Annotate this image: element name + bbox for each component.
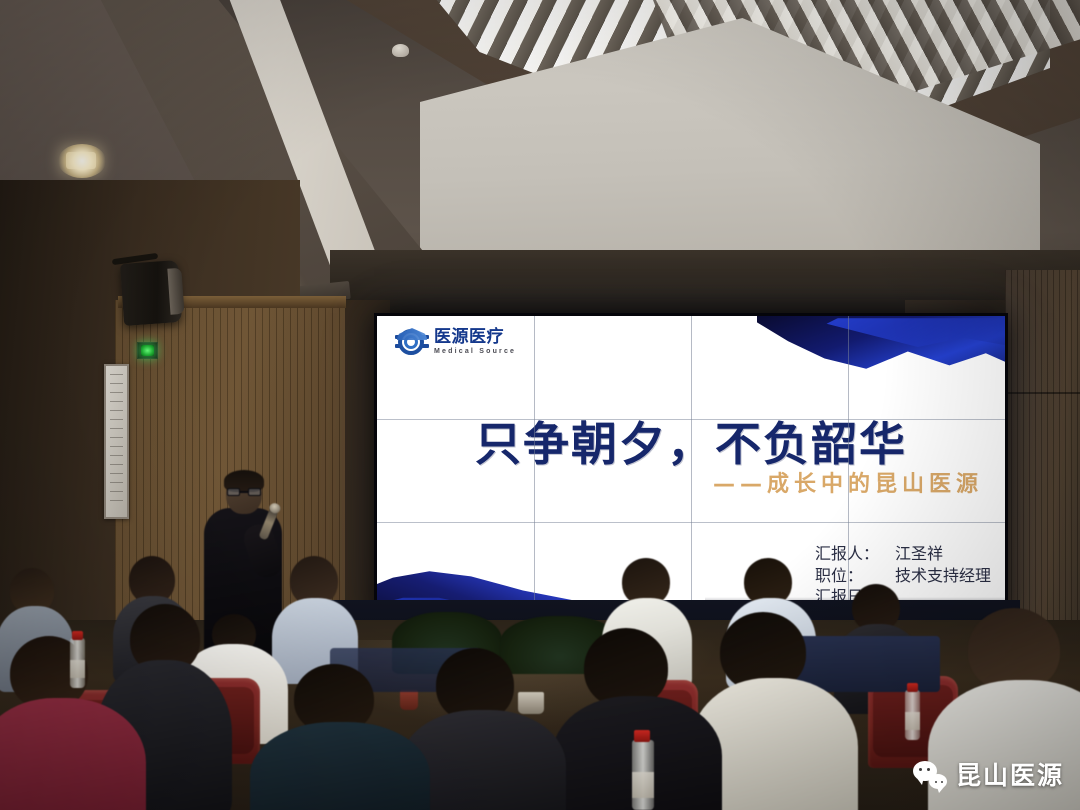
bottle-label <box>632 772 654 798</box>
presenter-value-position: 技术支持经理 <box>895 566 991 586</box>
watermark-text: 昆山医源 <box>956 756 1064 792</box>
logo-english-name: Medical Source <box>434 348 516 355</box>
presenter-glasses-icon <box>227 488 261 496</box>
panel-seam-horizontal <box>377 419 1005 420</box>
downlight-glow <box>58 144 106 178</box>
glasses-lens <box>227 488 240 496</box>
audience-person <box>700 612 850 810</box>
wechat-dot <box>919 768 922 771</box>
wechat-bubble-small-tail <box>937 787 944 793</box>
logo-text-block: 医源医疗 Medical Source <box>434 329 516 355</box>
water-bottle <box>905 690 920 740</box>
exit-sign-icon <box>137 342 158 359</box>
panel-seam-vertical <box>848 316 849 623</box>
water-bottle <box>632 740 654 810</box>
glasses-bridge <box>240 491 248 493</box>
watermark: 昆山医源 <box>913 756 1064 792</box>
glasses-lens <box>248 488 261 496</box>
exit-sign-glow <box>141 345 154 356</box>
smoke-detector-icon <box>392 44 409 57</box>
presenter-value-reporter: 江圣祥 <box>895 544 991 564</box>
bottle-cap <box>634 730 650 742</box>
framed-notice-icon <box>104 364 129 519</box>
wechat-dot <box>941 781 943 783</box>
wechat-dot <box>927 768 930 771</box>
wall-seam <box>1005 392 1080 394</box>
presenter-label-reporter: 汇报人： <box>815 544 879 564</box>
wechat-icon <box>913 759 947 789</box>
wechat-bubble-large-tail <box>916 777 924 785</box>
wechat-dot <box>935 781 937 783</box>
medical-source-ring-logo-icon <box>395 328 429 356</box>
slide-logo: 医源医疗 Medical Source <box>395 328 516 356</box>
presenter-label-position: 职位： <box>815 566 879 586</box>
wall-speaker-icon <box>120 260 182 326</box>
panel-seam-horizontal <box>377 522 1005 523</box>
notice-text-lines <box>110 374 123 509</box>
logo-chinese-name: 医源医疗 <box>434 329 516 346</box>
panel-seam-vertical <box>691 316 692 623</box>
logo-swoosh <box>397 328 427 340</box>
panel-seam-vertical <box>534 316 535 623</box>
bottle-cap <box>72 631 83 640</box>
slide-surface: 医源医疗 Medical Source 只争朝夕，不负韶华 ——成长中的昆山医源… <box>377 316 1005 623</box>
video-wall[interactable]: 医源医疗 Medical Source 只争朝夕，不负韶华 ——成长中的昆山医源… <box>374 313 1008 626</box>
person-body <box>0 698 146 810</box>
water-bottle <box>70 638 85 688</box>
bottle-label <box>905 712 920 730</box>
audience-person <box>258 664 418 810</box>
bottle-label <box>70 660 85 678</box>
conference-room-photo: 医源医疗 Medical Source 只争朝夕，不负韶华 ——成长中的昆山医源… <box>0 0 1080 810</box>
person-body <box>250 722 430 810</box>
bottle-cap <box>907 683 918 692</box>
